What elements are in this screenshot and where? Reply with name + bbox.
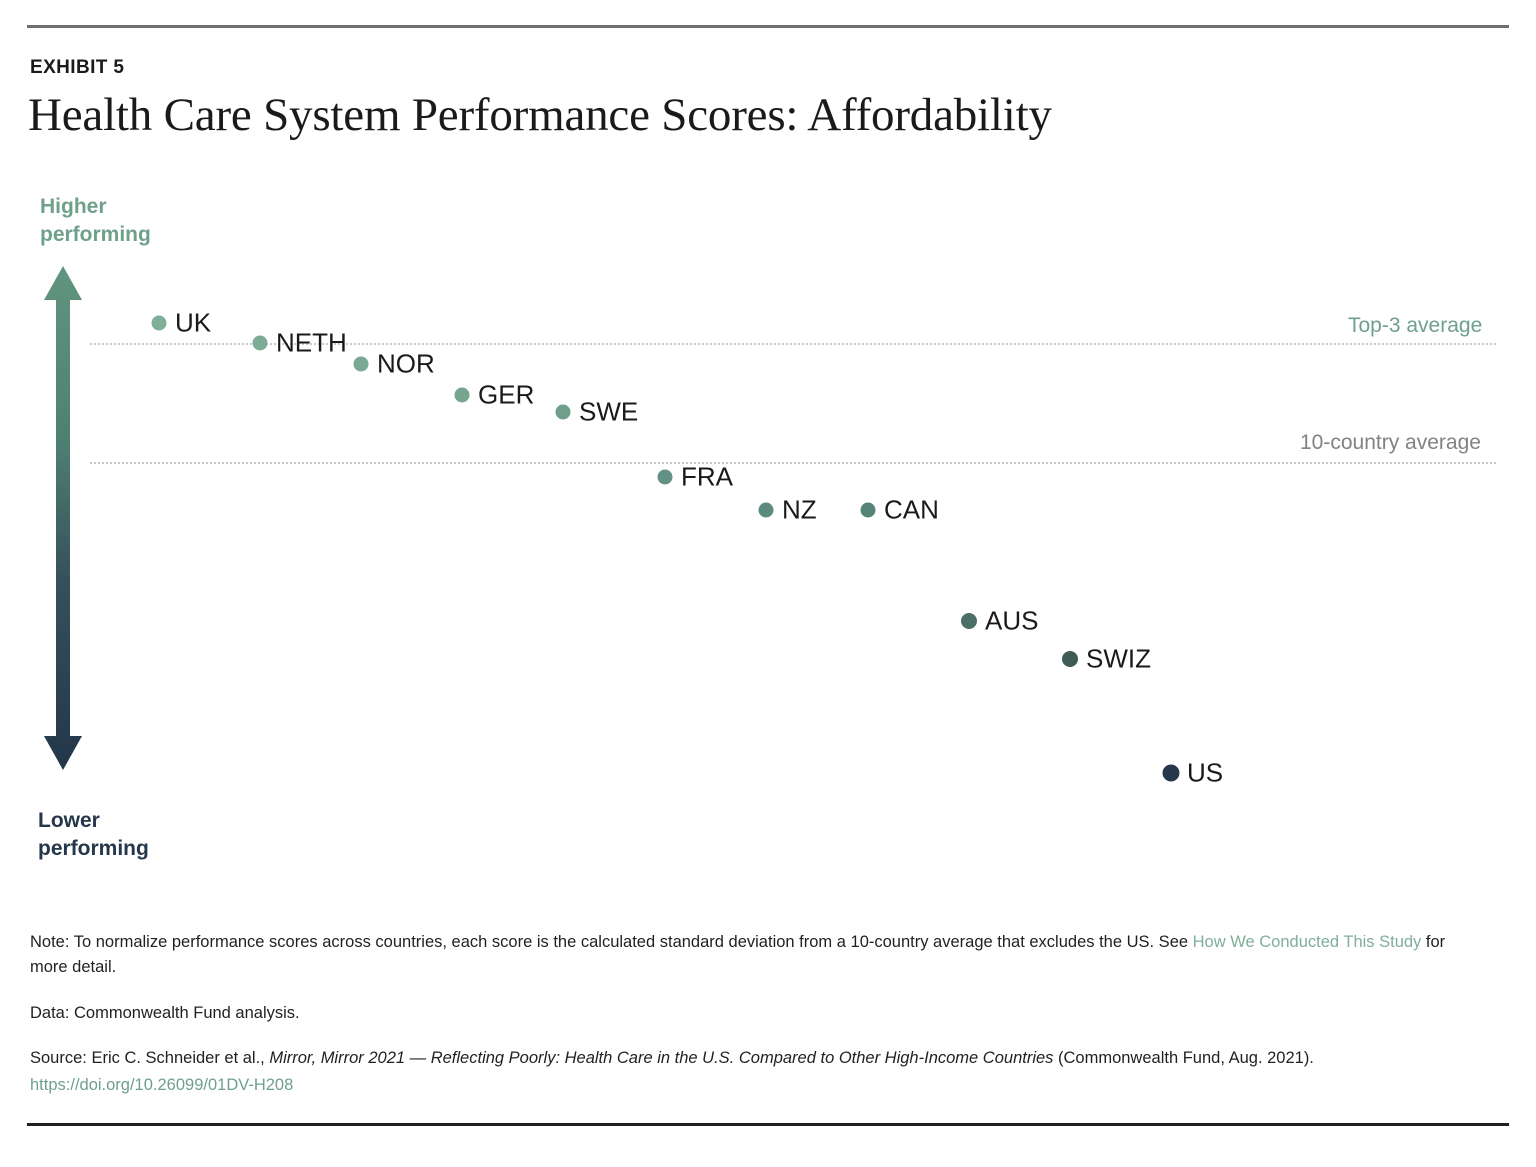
- data-point-marker: [1163, 765, 1180, 782]
- data-paragraph: Data: Commonwealth Fund analysis.: [30, 1001, 1480, 1026]
- data-point-marker: [658, 470, 673, 485]
- exhibit-page: EXHIBIT 5 Health Care System Performance…: [0, 0, 1536, 1167]
- note-text-pre: Note: To normalize performance scores ac…: [30, 933, 1193, 951]
- footnotes: Note: To normalize performance scores ac…: [30, 930, 1480, 1098]
- data-point-label: NZ: [782, 495, 817, 526]
- data-point-marker: [759, 503, 774, 518]
- data-point-label: FRA: [681, 462, 733, 493]
- reference-line-10-country: [90, 462, 1496, 464]
- reference-label-10-country: 10-country average: [1300, 431, 1481, 455]
- performance-axis-arrow-icon: [42, 262, 84, 774]
- data-point-label: NETH: [276, 328, 347, 359]
- chart-plot-area: Higher performing Lower performing Top-3…: [0, 0, 1536, 920]
- data-point-label: SWE: [579, 397, 638, 428]
- source-text-pre: Source: Eric C. Schneider et al.,: [30, 1049, 269, 1067]
- data-point-label: NOR: [377, 349, 435, 380]
- reference-label-top3: Top-3 average: [1348, 314, 1482, 338]
- data-point-label: GER: [478, 380, 534, 411]
- data-point-marker: [556, 405, 571, 420]
- data-point-label: AUS: [985, 606, 1038, 637]
- data-point-marker: [253, 336, 268, 351]
- source-title-italic: Mirror, Mirror 2021 — Reflecting Poorly:…: [269, 1049, 1053, 1067]
- data-point-marker: [354, 357, 369, 372]
- bottom-divider: [27, 1123, 1509, 1126]
- data-point-label: CAN: [884, 495, 939, 526]
- data-point-marker: [861, 503, 876, 518]
- axis-label-lower-performing: Lower performing: [38, 807, 149, 862]
- note-paragraph: Note: To normalize performance scores ac…: [30, 930, 1480, 980]
- data-point-marker: [455, 388, 470, 403]
- data-point-marker: [1062, 651, 1078, 667]
- doi-link[interactable]: https://doi.org/10.26099/01DV-H208: [30, 1073, 293, 1098]
- data-point-marker: [152, 316, 167, 331]
- data-point-label: UK: [175, 308, 211, 339]
- source-paragraph: Source: Eric C. Schneider et al., Mirror…: [30, 1046, 1480, 1098]
- data-point-marker: [961, 613, 977, 629]
- axis-label-higher-performing: Higher performing: [40, 193, 151, 248]
- how-we-conducted-this-study-link[interactable]: How We Conducted This Study: [1193, 933, 1422, 951]
- data-point-label: SWIZ: [1086, 644, 1151, 675]
- source-text-post: (Commonwealth Fund, Aug. 2021).: [1053, 1049, 1313, 1067]
- data-point-label: US: [1187, 758, 1223, 789]
